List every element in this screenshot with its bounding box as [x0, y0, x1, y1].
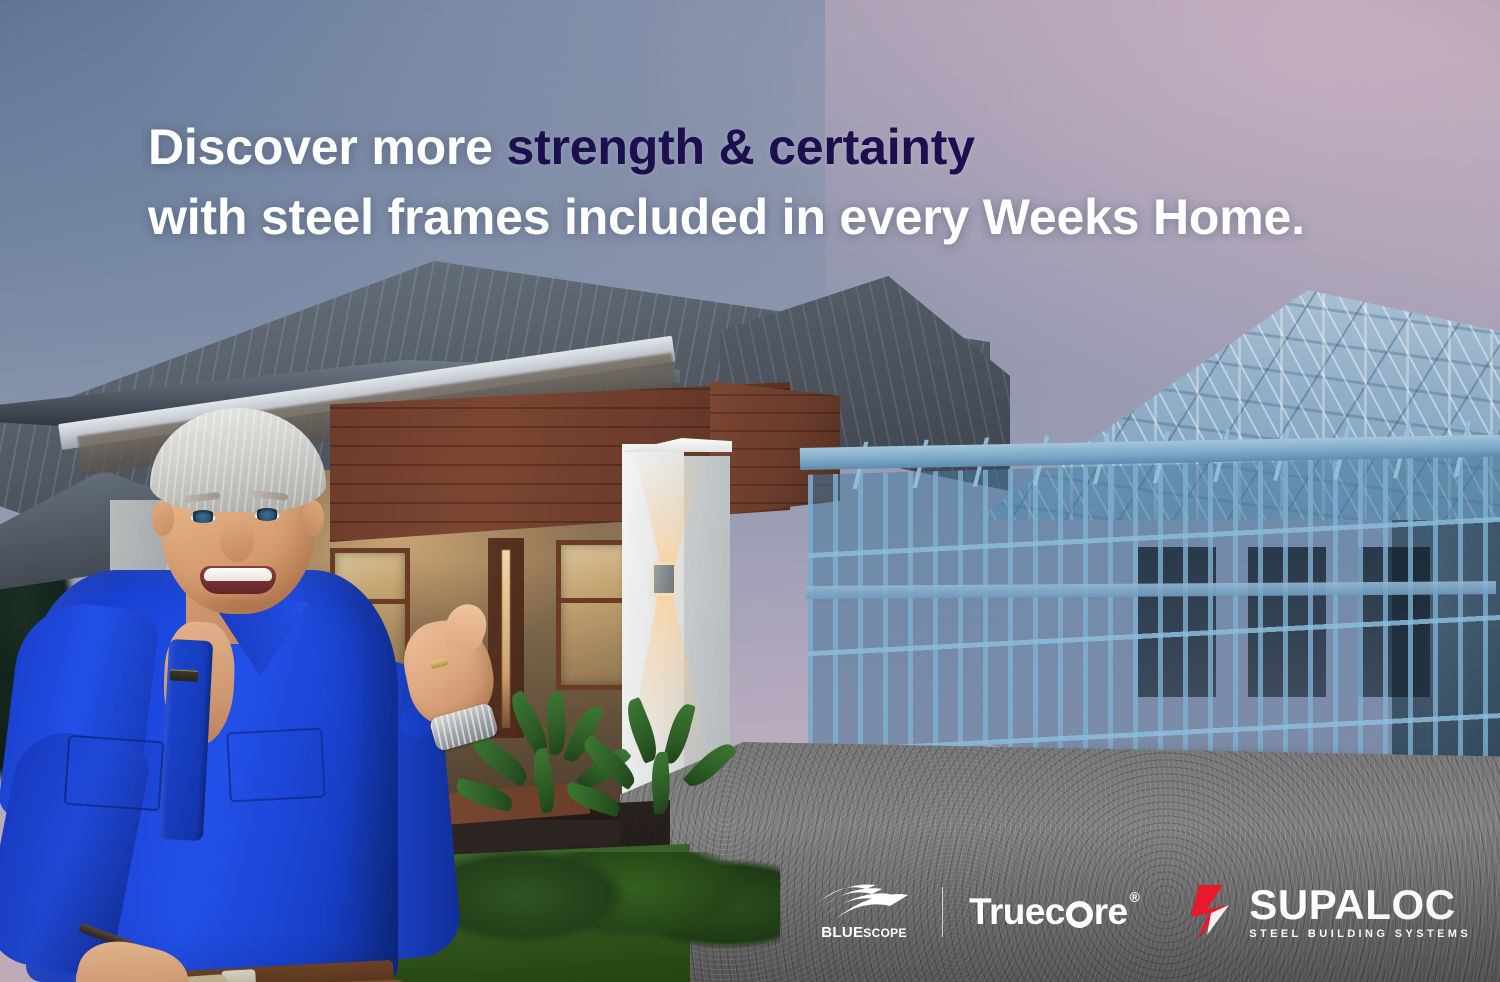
shirt-pocket-right [226, 728, 326, 803]
steel-wall-frame [808, 455, 1500, 785]
window-mullion [561, 598, 627, 603]
pillar-wall-light [654, 562, 674, 596]
truecore-logo[interactable]: Truec re ® [969, 891, 1137, 933]
wall-frame-noggins [808, 455, 1500, 785]
shirt-brand-badge [170, 669, 199, 681]
supaloc-tagline: STEEL BUILDING SYSTEMS [1249, 928, 1471, 940]
tradesman-presenter [14, 408, 534, 982]
partner-logo-bar: BLUESCOPE Truec re ® SUPALOC STEEL BUILD… [812, 876, 1471, 948]
supaloc-lightning-icon [1189, 883, 1245, 941]
ear-right [302, 500, 324, 536]
bluescope-wordmark: BLUESCOPE [821, 924, 907, 941]
leaf-plant-right [598, 694, 718, 840]
headline-line-1: Discover more strength & certainty [148, 112, 1398, 182]
supaloc-wordmark: SUPALOC [1249, 884, 1471, 926]
plant-leaf [544, 691, 569, 755]
hair [150, 408, 326, 512]
truecore-text-before-o: Truec [969, 891, 1065, 933]
headline-accent: strength & certainty [506, 119, 974, 175]
bluescope-word-blue: BLUE [821, 924, 863, 941]
teeth [204, 568, 272, 581]
truecore-text-after-o: re [1094, 891, 1128, 933]
smiling-mouth [200, 566, 276, 594]
nose [220, 520, 254, 562]
bluescope-word-scope: SCOPE [863, 926, 907, 940]
promotional-banner: Discover more strength & certainty with … [0, 0, 1500, 982]
supaloc-text-block: SUPALOC STEEL BUILDING SYSTEMS [1249, 884, 1471, 940]
eye-right [254, 508, 280, 521]
headline-prefix: Discover more [148, 119, 506, 175]
logo-divider [942, 887, 943, 937]
headline: Discover more strength & certainty with … [148, 112, 1398, 252]
window-right [556, 540, 632, 690]
headline-line-2: with steel frames included in every Week… [148, 182, 1398, 252]
shirt-pocket-left [64, 735, 165, 812]
bluescope-logo[interactable]: BLUESCOPE [812, 883, 916, 941]
truecore-registered-mark: ® [1130, 889, 1140, 905]
chin-shadow [192, 598, 284, 620]
belt-buckle [221, 969, 257, 982]
bluescope-wave-icon [816, 883, 912, 921]
eye-left [190, 510, 216, 523]
supaloc-logo[interactable]: SUPALOC STEEL BUILDING SYSTEMS [1189, 883, 1471, 941]
truecore-ring-icon [1066, 901, 1093, 928]
ear-left [152, 500, 174, 536]
